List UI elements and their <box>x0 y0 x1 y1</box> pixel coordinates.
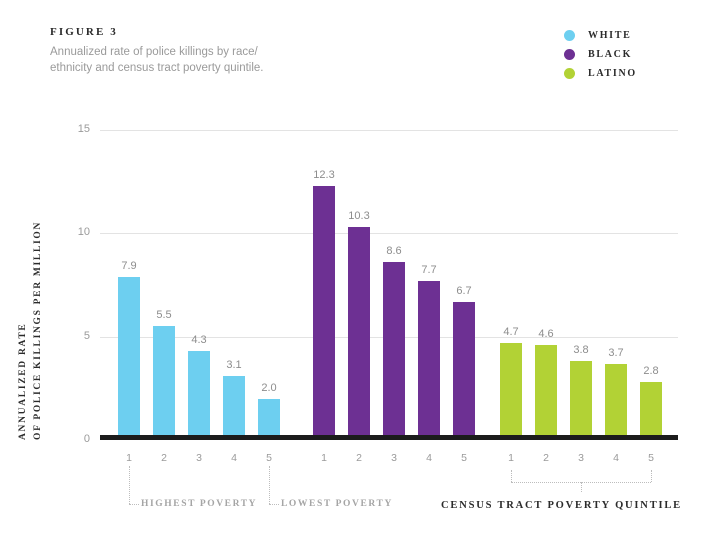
x-axis-tick-label: 3 <box>383 452 405 464</box>
bar-value-label: 2.0 <box>261 382 276 394</box>
legend-item-black[interactable]: BLACK <box>564 45 684 64</box>
x-axis-tick-label: 2 <box>535 452 557 464</box>
bar-latino-q1[interactable]: 4.7 <box>500 343 522 440</box>
y-axis-tick-label: 10 <box>60 226 90 238</box>
bar-white-q1[interactable]: 7.9 <box>118 277 140 440</box>
quintile-bracket-end-1 <box>511 470 512 482</box>
legend-item-label: BLACK <box>588 49 632 60</box>
bar-value-label: 12.3 <box>313 169 334 181</box>
bar-latino-q2[interactable]: 4.6 <box>535 345 557 440</box>
bar-black-q4[interactable]: 7.7 <box>418 281 440 440</box>
bar-value-label: 4.3 <box>191 334 206 346</box>
x-axis-tick-label: 3 <box>188 452 210 464</box>
x-axis-tick-label: 5 <box>453 452 475 464</box>
legend-item-white[interactable]: WHITE <box>564 26 684 45</box>
highest-poverty-leader-line <box>129 466 130 504</box>
bar-latino-q4[interactable]: 3.7 <box>605 364 627 440</box>
bar-value-label: 4.6 <box>538 328 553 340</box>
x-axis-tick-label: 5 <box>640 452 662 464</box>
bar-black-q1[interactable]: 12.3 <box>313 186 335 440</box>
bar-black-q3[interactable]: 8.6 <box>383 262 405 440</box>
x-axis-tick-label: 4 <box>605 452 627 464</box>
legend-item-label: LATINO <box>588 68 637 79</box>
figure-caption: Annualized rate of police killings by ra… <box>50 44 350 76</box>
chart-legend: WHITEBLACKLATINO <box>564 26 684 83</box>
bar-white-q4[interactable]: 3.1 <box>223 376 245 440</box>
x-axis-tick-label: 1 <box>118 452 140 464</box>
bar-value-label: 7.9 <box>121 260 136 272</box>
x-axis-tick-label: 1 <box>313 452 335 464</box>
y-axis-tick-label: 15 <box>60 123 90 135</box>
highest-poverty-leader-elbow <box>129 504 139 505</box>
gridline <box>100 130 678 131</box>
bar-value-label: 10.3 <box>348 210 369 222</box>
bar-black-q5[interactable]: 6.7 <box>453 302 475 440</box>
x-axis-tick-label: 4 <box>418 452 440 464</box>
x-axis-title: CENSUS TRACT POVERTY QUINTILE <box>441 500 682 511</box>
y-axis-tick-label: 0 <box>60 433 90 445</box>
figure-label: FIGURE 3 <box>50 26 118 38</box>
legend-item-label: WHITE <box>588 30 632 41</box>
x-axis-baseline <box>100 435 678 440</box>
highest-poverty-label: HIGHEST POVERTY <box>141 499 257 509</box>
gridline <box>100 233 678 234</box>
bar-white-q5[interactable]: 2.0 <box>258 399 280 440</box>
x-axis-tick-label: 3 <box>570 452 592 464</box>
legend-item-latino[interactable]: LATINO <box>564 64 684 83</box>
bar-value-label: 5.5 <box>156 309 171 321</box>
legend-dot-icon <box>564 30 575 41</box>
quintile-bracket-drop <box>581 482 582 492</box>
quintile-bracket-end-2 <box>651 470 652 482</box>
bar-value-label: 3.8 <box>573 344 588 356</box>
bar-value-label: 6.7 <box>456 285 471 297</box>
bar-white-q3[interactable]: 4.3 <box>188 351 210 440</box>
bar-latino-q3[interactable]: 3.8 <box>570 361 592 440</box>
bar-value-label: 2.8 <box>643 365 658 377</box>
x-axis-tick-label: 5 <box>258 452 280 464</box>
lowest-poverty-label: LOWEST POVERTY <box>281 499 393 509</box>
bar-black-q2[interactable]: 10.3 <box>348 227 370 440</box>
legend-dot-icon <box>564 68 575 79</box>
y-axis-title: ANNUALIZED RATE OF POLICE KILLINGS PER M… <box>10 130 50 440</box>
bar-value-label: 3.7 <box>608 347 623 359</box>
y-axis-title-line-2: OF POLICE KILLINGS PER MILLION <box>33 221 43 440</box>
x-axis-tick-label: 2 <box>153 452 175 464</box>
bar-value-label: 4.7 <box>503 326 518 338</box>
x-axis-tick-label: 4 <box>223 452 245 464</box>
lowest-poverty-leader-elbow <box>269 504 279 505</box>
bar-value-label: 7.7 <box>421 264 436 276</box>
x-axis-tick-label: 2 <box>348 452 370 464</box>
legend-dot-icon <box>564 49 575 60</box>
bar-value-label: 8.6 <box>386 245 401 257</box>
bar-white-q2[interactable]: 5.5 <box>153 326 175 440</box>
bar-value-label: 3.1 <box>226 359 241 371</box>
y-axis-tick-label: 5 <box>60 330 90 342</box>
bar-latino-q5[interactable]: 2.8 <box>640 382 662 440</box>
x-axis-tick-label: 1 <box>500 452 522 464</box>
y-axis-title-line-1: ANNUALIZED RATE <box>18 323 28 440</box>
lowest-poverty-leader-line <box>269 466 270 504</box>
plot-area: 7.95.54.33.12.012.310.38.67.76.74.74.63.… <box>100 130 678 440</box>
